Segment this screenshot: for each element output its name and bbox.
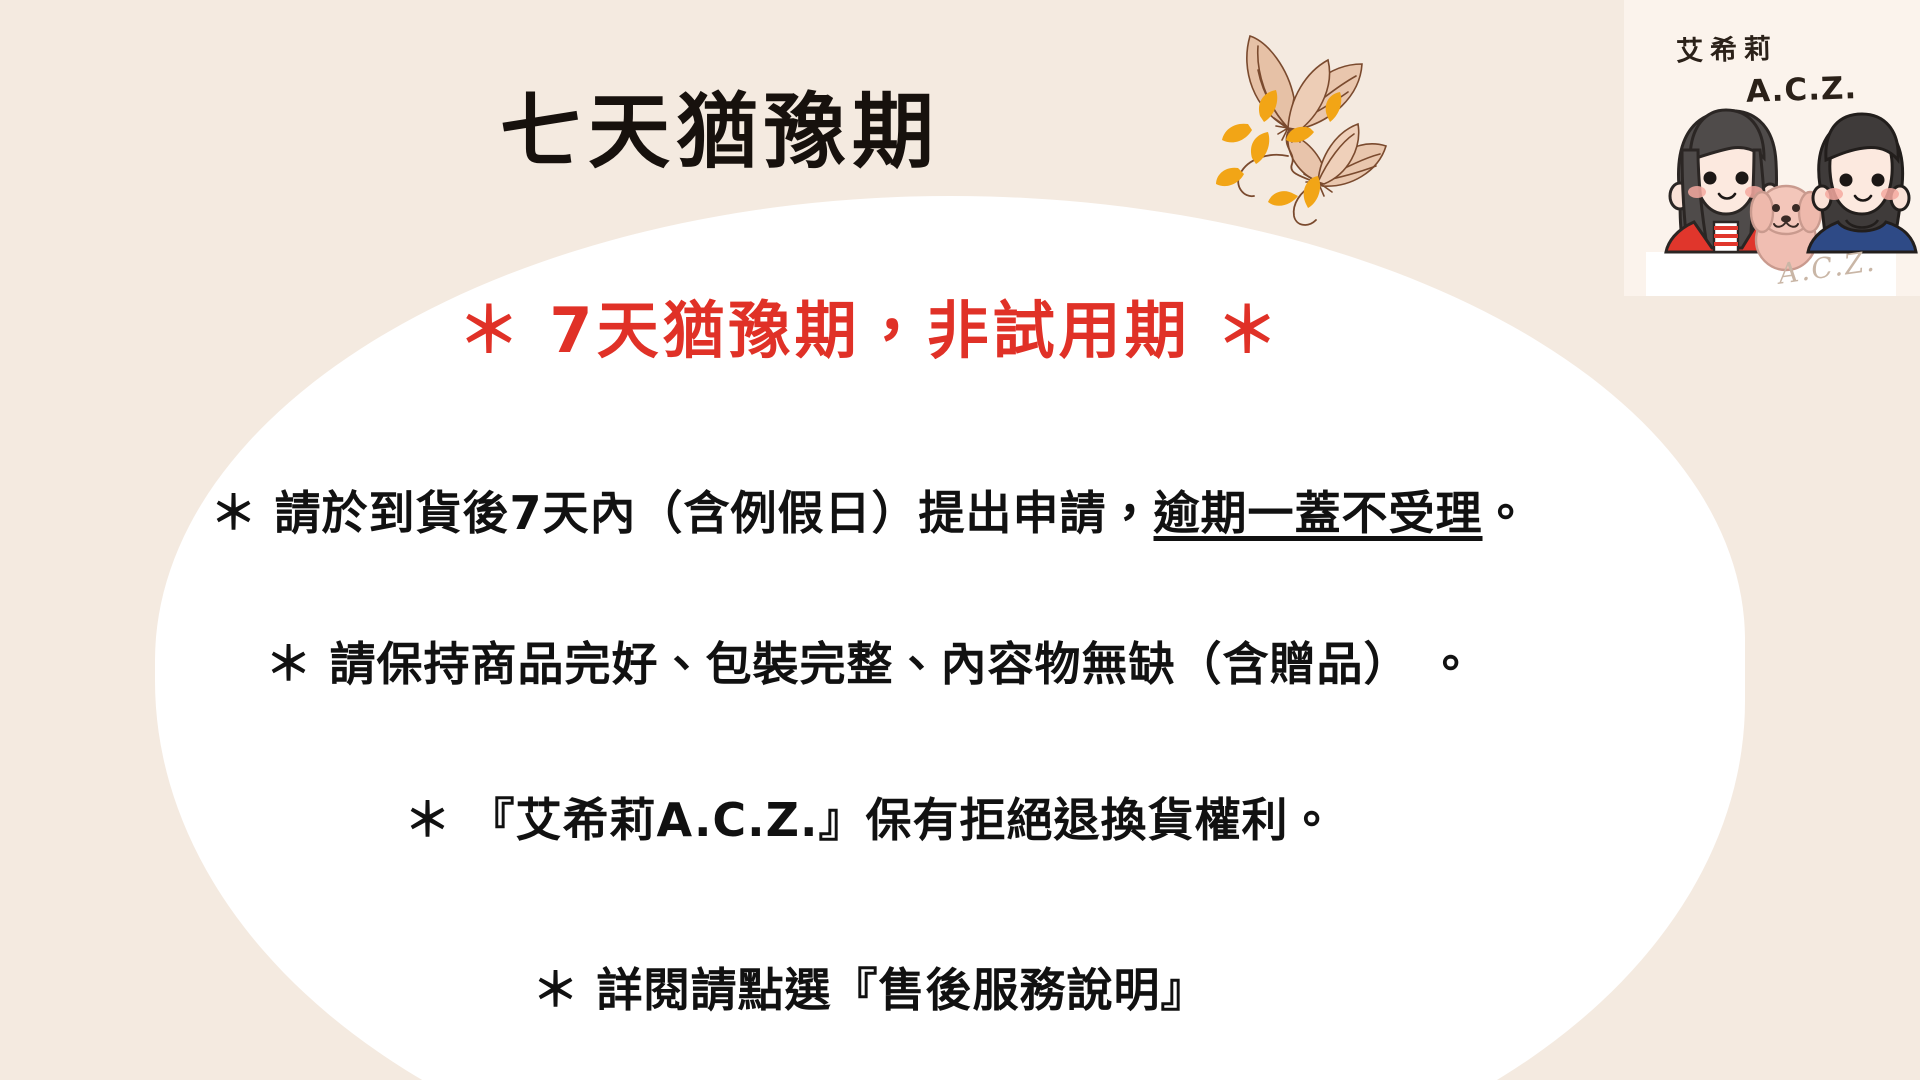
boy-avatar [1808,114,1916,252]
policy-line-1-underlined: 逾期一蓋不受理 [1154,486,1483,540]
policy-line-3: ＊ 『艾希莉A.C.Z.』保有拒絕退換貨權利。 [0,784,1740,850]
slide-canvas: 七天猶豫期 [0,0,1920,1080]
headline-red: ＊ 7天猶豫期，非試用期 ＊ [0,280,1740,370]
content-text-block: ＊ 7天猶豫期，非試用期 ＊ ＊ 請於到貨後7天內（含例假日）提出申請，逾期一蓋… [0,0,1740,1080]
policy-line-4: ＊ 詳閱請點選『售後服務說明』 [0,954,1740,1020]
policy-line-1-suffix: 。 [1483,486,1530,540]
brand-name-en: A.C.Z. [1745,70,1857,110]
policy-line-1: ＊ 請於到貨後7天內（含例假日）提出申請，逾期一蓋不受理。 [0,477,1740,543]
policy-line-2: ＊ 請保持商品完好、包裝完整、內容物無缺（含贈品） 。 [0,628,1740,694]
policy-line-1-prefix: ＊ 請於到貨後7天內（含例假日）提出申請， [210,486,1153,540]
